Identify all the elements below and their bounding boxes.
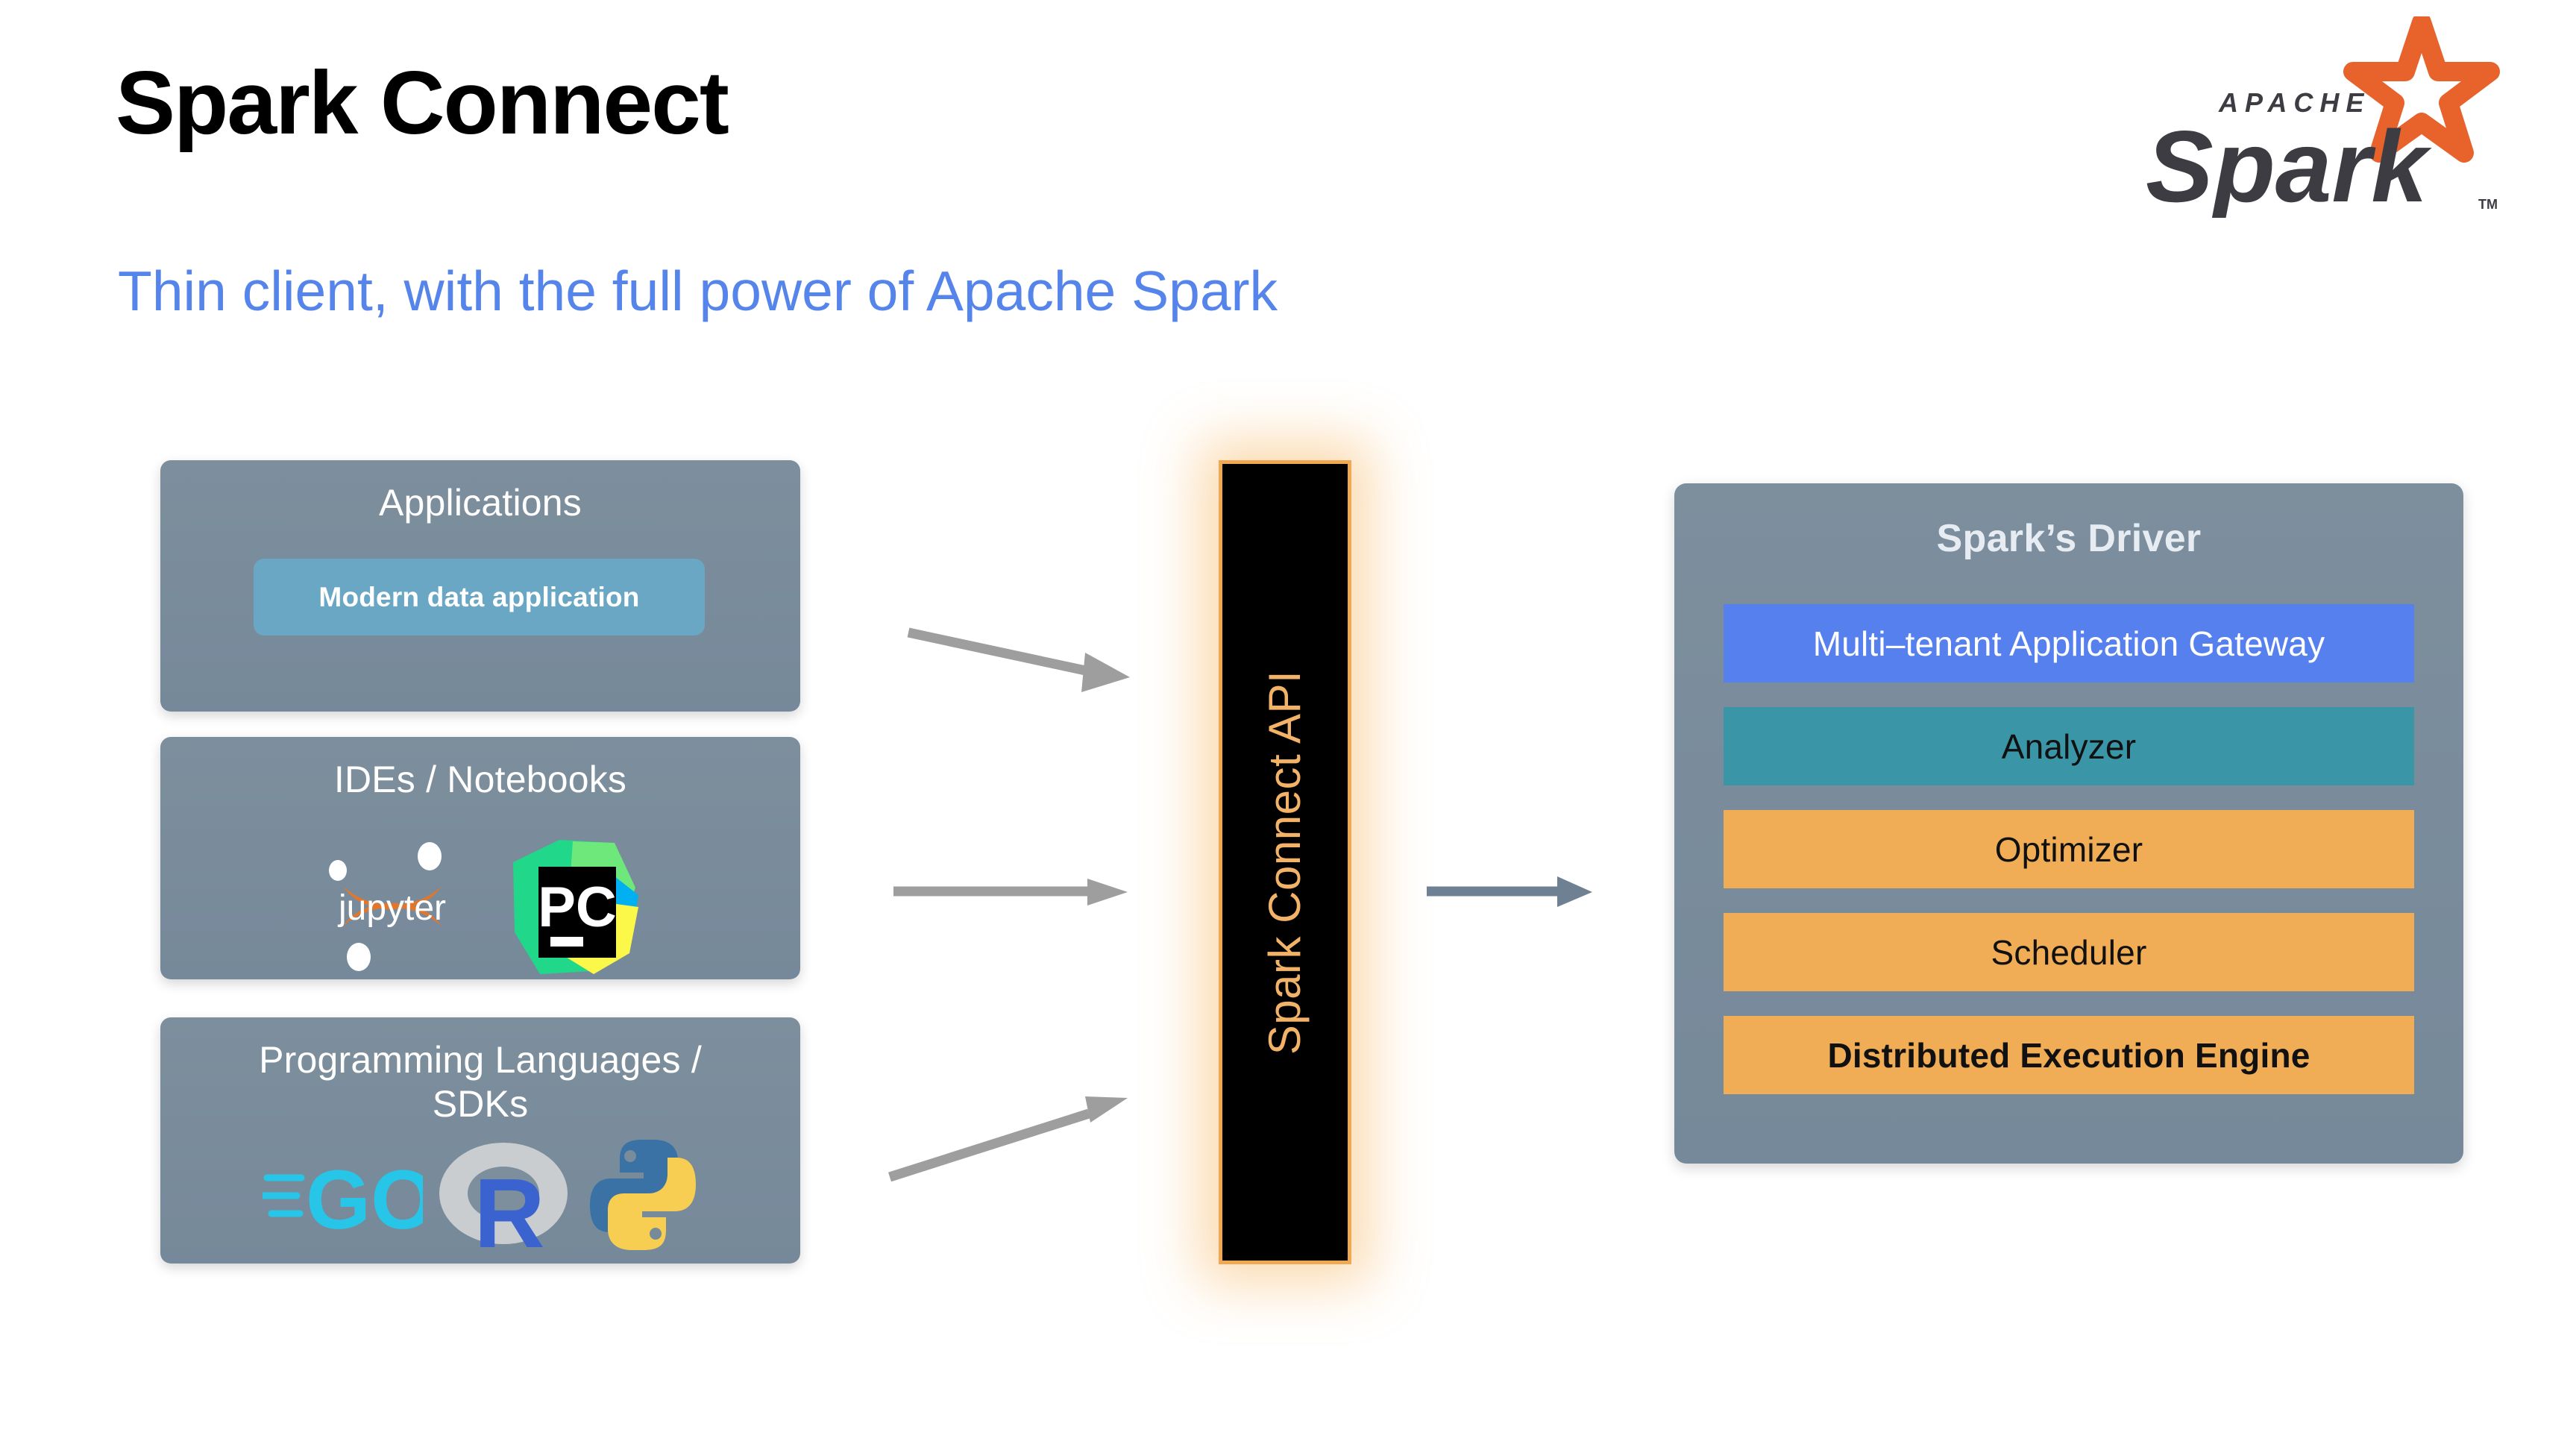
pycharm-logo: PC bbox=[501, 835, 643, 981]
apache-spark-logo: APACHE Spark TM bbox=[2129, 16, 2502, 218]
jupyter-wordmark-text: jupyter bbox=[337, 888, 446, 928]
go-logo: GO bbox=[263, 1146, 423, 1247]
arrow-languages-to-api bbox=[890, 1096, 1128, 1177]
card-title-applications: Applications bbox=[160, 460, 800, 525]
driver-row-execution-engine[interactable]: Distributed Execution Engine bbox=[1724, 1016, 2414, 1094]
driver-component-stack: Multi–tenant Application Gateway Analyze… bbox=[1724, 604, 2414, 1094]
client-card-programming-languages[interactable]: Programming Languages / SDKs GO R bbox=[160, 1017, 800, 1264]
driver-row-analyzer-label: Analyzer bbox=[2002, 729, 2137, 764]
driver-row-scheduler-label: Scheduler bbox=[1991, 935, 2147, 970]
driver-row-scheduler[interactable]: Scheduler bbox=[1724, 913, 2414, 991]
driver-row-gateway-label: Multi–tenant Application Gateway bbox=[1813, 627, 2325, 661]
card-title-programming-languages: Programming Languages / SDKs bbox=[160, 1017, 800, 1126]
trademark-text: TM bbox=[2478, 197, 2498, 212]
spark-wordmark-text: Spark bbox=[2146, 110, 2432, 218]
language-logo-row: GO R bbox=[160, 1135, 800, 1258]
modern-data-application-pill[interactable]: Modern data application bbox=[254, 559, 705, 635]
ide-logo-row: jupyter PC bbox=[160, 835, 800, 981]
client-card-ides-notebooks[interactable]: IDEs / Notebooks jupyter bbox=[160, 737, 800, 979]
driver-row-analyzer[interactable]: Analyzer bbox=[1724, 707, 2414, 785]
arrow-applications-to-api bbox=[908, 633, 1130, 692]
go-wordmark-text: GO bbox=[306, 1153, 423, 1243]
r-logo: R bbox=[438, 1135, 572, 1258]
arrow-api-to-driver bbox=[1427, 876, 1592, 907]
driver-row-execution-engine-label: Distributed Execution Engine bbox=[1827, 1038, 2310, 1073]
r-letter-text: R bbox=[474, 1158, 544, 1255]
python-logo bbox=[587, 1138, 699, 1255]
spark-connect-api-label: Spark Connect API bbox=[1260, 670, 1311, 1054]
spark-connect-api-bar[interactable]: Spark Connect API bbox=[1219, 460, 1351, 1264]
arrow-ides-to-api bbox=[893, 879, 1128, 905]
page-title: Spark Connect bbox=[116, 58, 728, 148]
card-title-line2: SDKs bbox=[433, 1083, 529, 1125]
client-card-applications[interactable]: Applications Modern data application bbox=[160, 460, 800, 712]
spark-driver-panel[interactable]: Spark’s Driver Multi–tenant Application … bbox=[1674, 483, 2463, 1164]
driver-row-optimizer[interactable]: Optimizer bbox=[1724, 810, 2414, 888]
pycharm-letters-text: PC bbox=[538, 876, 617, 939]
driver-row-optimizer-label: Optimizer bbox=[1995, 832, 2143, 867]
page-subtitle: Thin client, with the full power of Apac… bbox=[118, 263, 1278, 319]
jupyter-logo: jupyter bbox=[318, 837, 467, 979]
driver-row-gateway[interactable]: Multi–tenant Application Gateway bbox=[1724, 604, 2414, 682]
card-title-line1: Programming Languages / bbox=[259, 1039, 702, 1081]
spark-driver-title: Spark’s Driver bbox=[1674, 483, 2463, 561]
modern-data-application-label: Modern data application bbox=[318, 582, 639, 613]
card-title-ides-notebooks: IDEs / Notebooks bbox=[160, 737, 800, 802]
